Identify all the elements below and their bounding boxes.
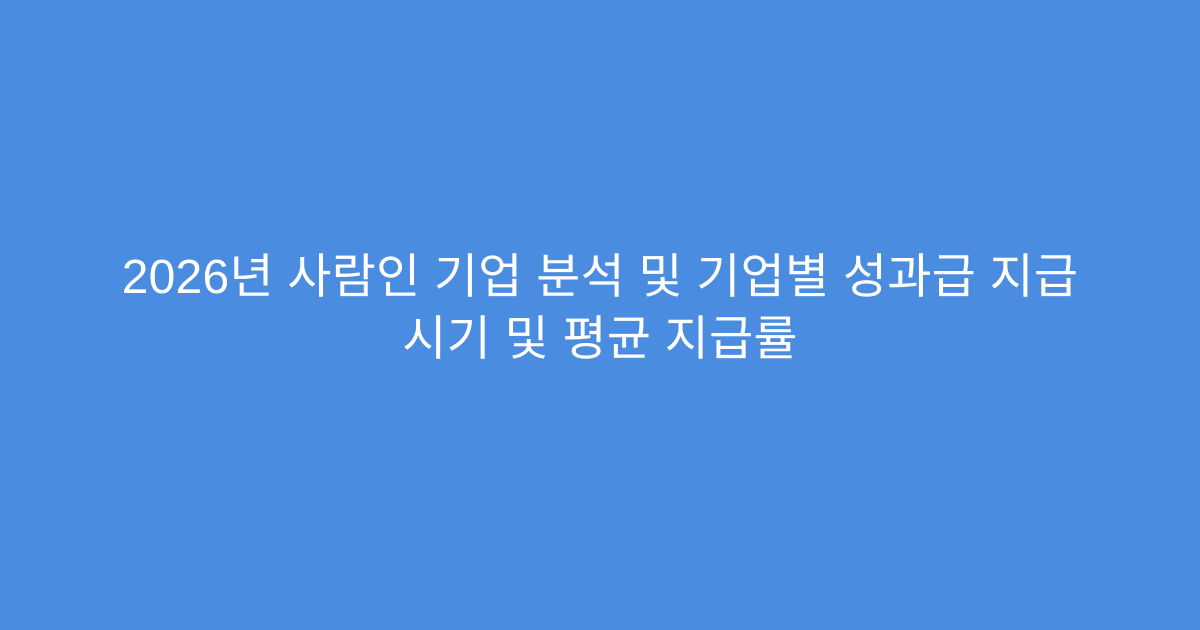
page-title: 2026년 사람인 기업 분석 및 기업별 성과급 지급 시기 및 평균 지급률 — [70, 247, 1130, 371]
page-title-line-1: 2026년 사람인 기업 분석 및 기업별 성과급 지급 — [122, 247, 1078, 309]
og-card-canvas: 2026년 사람인 기업 분석 및 기업별 성과급 지급 시기 및 평균 지급률 — [0, 0, 1200, 630]
page-title-line-2: 시기 및 평균 지급률 — [402, 309, 798, 371]
